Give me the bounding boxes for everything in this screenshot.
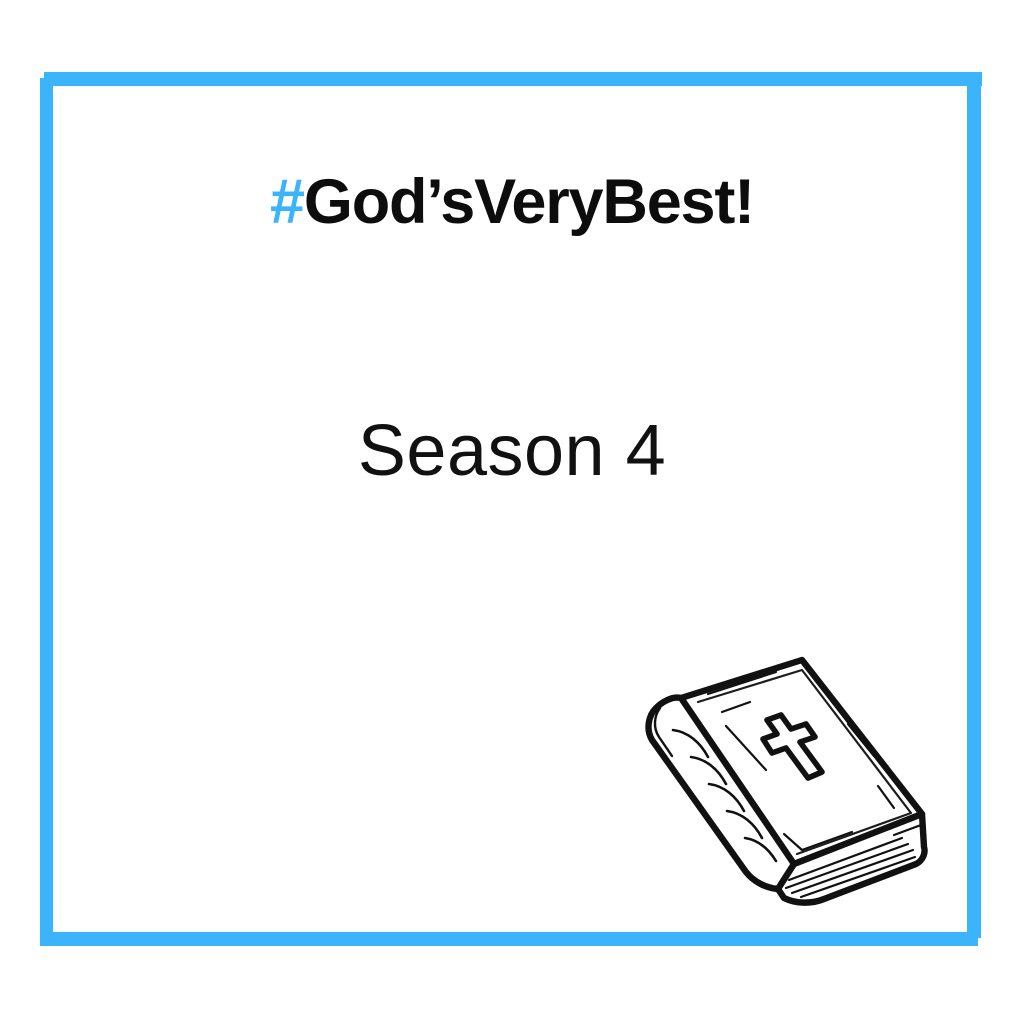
page-title: #God’sVeryBest! (0, 168, 1024, 237)
slide-card: #God’sVeryBest! Season 4 (0, 0, 1024, 1024)
hashtag-symbol: # (270, 167, 304, 237)
bible-illustration (626, 636, 936, 906)
frame-border-bottom (40, 932, 978, 946)
frame-border-top (44, 72, 982, 86)
page-title-text: God’sVeryBest! (304, 167, 754, 237)
season-subtitle: Season 4 (0, 412, 1024, 491)
